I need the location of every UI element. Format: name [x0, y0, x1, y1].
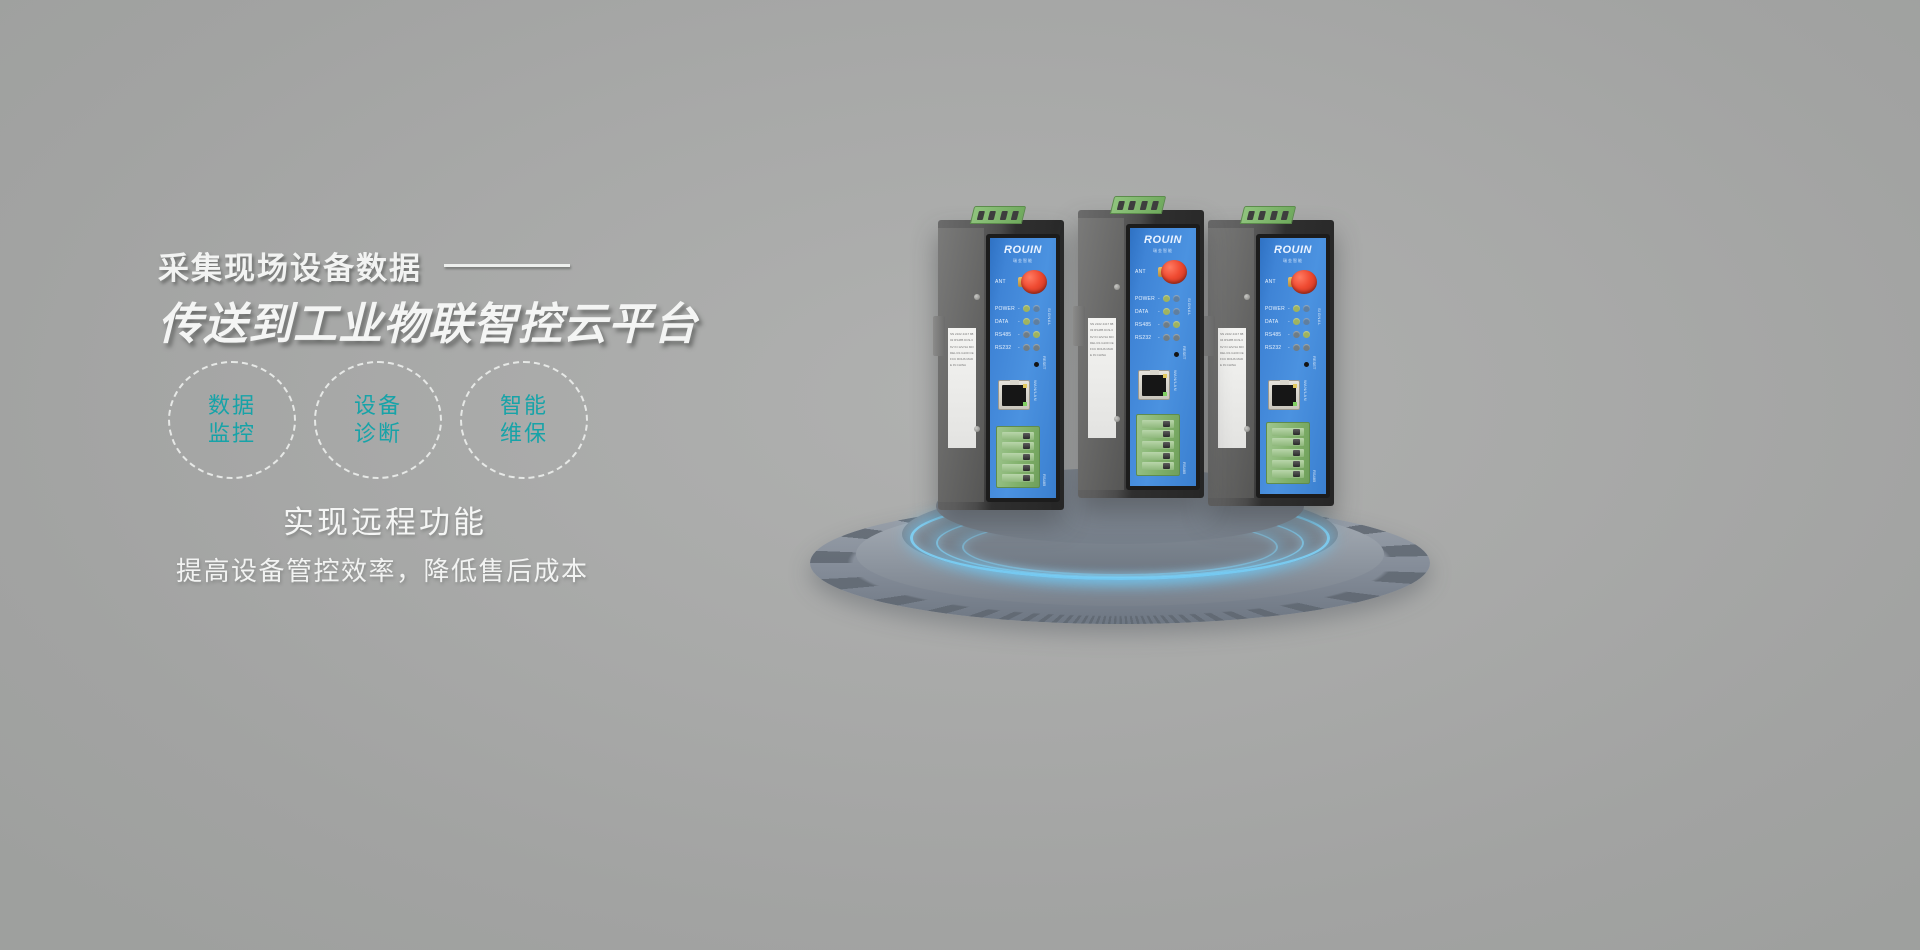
led-indicator-icon — [1293, 318, 1300, 325]
hero-kicker: 采集现场设备数据 — [158, 243, 422, 288]
top-power-connector — [970, 206, 1026, 224]
green-terminal-block — [1136, 414, 1180, 476]
led-dash: - — [1288, 319, 1290, 325]
led-indicator-icon — [1173, 321, 1180, 328]
led-indicator-icon — [1033, 318, 1040, 325]
iot-gateway-device-center: SN 2102 4417 8803 RS485 DC9-36V IN 12V/1… — [1078, 210, 1204, 498]
led-indicator-icon — [1163, 334, 1170, 341]
lan-port-label: WAN/LAN — [1033, 380, 1038, 401]
top-power-connector — [1110, 196, 1166, 214]
led-label: RS485 — [1135, 322, 1155, 328]
led-indicator-icon — [1163, 308, 1170, 315]
rj45-led-amber — [1023, 384, 1027, 388]
hero-kicker-rule — [444, 264, 570, 267]
led-row-data: DATA - — [1135, 305, 1191, 318]
led-indicator-icon — [1303, 331, 1310, 338]
led-indicator-block: POWER - DATA - RS485 - — [1265, 302, 1321, 354]
led-row-power: POWER - — [995, 302, 1051, 315]
antenna-row: ANT — [1135, 260, 1191, 286]
brand-logo: ROUIN — [990, 244, 1056, 256]
led-row-rs485: RS485 - — [995, 328, 1051, 341]
terminal-label: RS485 — [1182, 462, 1187, 474]
feature-badge-smart-maintenance[interactable]: 智能 维保 — [460, 361, 588, 479]
din-rail-clip — [1073, 306, 1085, 346]
terminal-screw — [1272, 428, 1304, 436]
terminal-screw — [1002, 464, 1034, 472]
led-indicator-icon — [1173, 308, 1180, 315]
led-label: DATA — [1135, 309, 1155, 315]
badge-label-line1: 设备 — [354, 392, 402, 420]
led-indicator-icon — [1023, 344, 1030, 351]
terminal-screw — [1272, 460, 1304, 468]
antenna-port-icon[interactable] — [1291, 270, 1317, 294]
led-indicator-icon — [1033, 331, 1040, 338]
green-terminal-block — [1266, 422, 1310, 484]
terminal-label: RS485 — [1312, 470, 1317, 482]
terminal-screw — [1002, 474, 1034, 482]
antenna-label: ANT — [995, 279, 1006, 285]
rj45-led-green — [1163, 392, 1167, 396]
led-dash: - — [1018, 332, 1020, 338]
device-screw-bottom — [974, 426, 980, 432]
device-spec-sticker: SN 2102 4417 8802 RS485 DC9-36V IN 12V/1… — [948, 328, 976, 448]
led-dash: - — [1288, 332, 1290, 338]
reset-button[interactable] — [1174, 352, 1179, 357]
antenna-label: ANT — [1265, 279, 1276, 285]
reset-label: RESET — [1182, 346, 1187, 359]
device-screw-top — [1114, 284, 1120, 290]
led-indicator-block: POWER - DATA - RS485 - — [1135, 292, 1191, 344]
led-indicator-icon — [1023, 305, 1030, 312]
led-dash: - — [1018, 319, 1020, 325]
hero-text-panel: 采集现场设备数据 传送到工业物联智控云平台 数据 监控 设备 诊断 智能 维保 … — [0, 0, 780, 950]
led-row-power: POWER - — [1265, 302, 1321, 315]
terminal-screw — [1142, 462, 1174, 470]
brand-subtitle: 瑞金智能 — [1260, 258, 1326, 264]
led-indicator-block: POWER - DATA - RS485 - — [995, 302, 1051, 354]
antenna-port-icon[interactable] — [1021, 270, 1047, 294]
rj45-led-amber — [1293, 384, 1297, 388]
badge-label-line2: 诊断 — [354, 420, 402, 448]
led-label: POWER — [1135, 296, 1155, 302]
led-indicator-icon — [1163, 295, 1170, 302]
rj45-ethernet-port[interactable] — [998, 380, 1030, 410]
hero-kicker-row: 采集现场设备数据 — [158, 243, 570, 288]
badge-label-line2: 维保 — [500, 420, 548, 448]
led-row-data: DATA - — [1265, 315, 1321, 328]
led-indicator-icon — [1303, 305, 1310, 312]
led-row-power: POWER - — [1135, 292, 1191, 305]
panel-side-label: SIGNAL — [1047, 308, 1052, 326]
antenna-label: ANT — [1135, 269, 1146, 275]
reset-label: RESET — [1312, 356, 1317, 369]
terminal-screw — [1002, 432, 1034, 440]
device-screw-top — [974, 294, 980, 300]
led-dash: - — [1018, 306, 1020, 312]
led-dash: - — [1288, 306, 1290, 312]
feature-badge-data-monitoring[interactable]: 数据 监控 — [168, 361, 296, 479]
led-indicator-icon — [1173, 334, 1180, 341]
led-indicator-icon — [1023, 331, 1030, 338]
panel-side-label: SIGNAL — [1317, 308, 1322, 326]
led-row-rs485: RS485 - — [1135, 318, 1191, 331]
feature-badge-group: 数据 监控 设备 诊断 智能 维保 — [168, 361, 588, 479]
rj45-led-amber — [1163, 374, 1167, 378]
badge-label-line2: 监控 — [208, 420, 256, 448]
green-terminal-block — [996, 426, 1040, 488]
badge-label-line1: 智能 — [500, 392, 548, 420]
led-dash: - — [1158, 296, 1160, 302]
panel-side-label: SIGNAL — [1187, 298, 1192, 316]
led-dash: - — [1158, 322, 1160, 328]
rj45-led-green — [1293, 402, 1297, 406]
lan-port-label: WAN/LAN — [1303, 380, 1308, 401]
brand-logo: ROUIN — [1260, 244, 1326, 256]
reset-button[interactable] — [1034, 362, 1039, 367]
led-indicator-icon — [1173, 295, 1180, 302]
antenna-row: ANT — [1265, 270, 1321, 296]
lan-port-label: WAN/LAN — [1173, 370, 1178, 391]
device-front-panel: ROUIN 瑞金智能 ANT POWER - DATA - — [986, 234, 1060, 502]
terminal-screw — [1272, 470, 1304, 478]
led-dash: - — [1158, 309, 1160, 315]
led-indicator-icon — [1293, 344, 1300, 351]
hero-sub-description: 提高设备管控效率，降低售后成本 — [176, 551, 589, 588]
device-front-panel: ROUIN 瑞金智能 ANT POWER - DATA - — [1126, 224, 1200, 490]
terminal-screw — [1142, 441, 1174, 449]
terminal-screw — [1272, 438, 1304, 446]
terminal-screw — [1142, 430, 1174, 438]
rj45-ethernet-port[interactable] — [1268, 380, 1300, 410]
iot-gateway-device-right: SN 2102 4417 8804 RS485 DC9-36V IN 12V/1… — [1208, 220, 1334, 506]
iot-gateway-device-left: SN 2102 4417 8802 RS485 DC9-36V IN 12V/1… — [938, 220, 1064, 510]
led-row-rs232: RS232 - — [1135, 331, 1191, 344]
device-spec-sticker: SN 2102 4417 8803 RS485 DC9-36V IN 12V/1… — [1088, 318, 1116, 438]
hero-sub-title: 实现远程功能 — [283, 497, 487, 542]
device-spec-sticker: SN 2102 4417 8804 RS485 DC9-36V IN 12V/1… — [1218, 328, 1246, 448]
led-label: RS232 — [1265, 345, 1285, 351]
device-screw-bottom — [1244, 426, 1250, 432]
led-indicator-icon — [1303, 318, 1310, 325]
rj45-led-green — [1023, 402, 1027, 406]
terminal-screw — [1142, 452, 1174, 460]
led-label: POWER — [995, 306, 1015, 312]
led-indicator-icon — [1033, 344, 1040, 351]
led-row-rs232: RS232 - — [995, 341, 1051, 354]
led-dash: - — [1158, 335, 1160, 341]
led-indicator-icon — [1033, 305, 1040, 312]
led-indicator-icon — [1023, 318, 1030, 325]
device-screw-bottom — [1114, 416, 1120, 422]
led-label: RS232 — [1135, 335, 1155, 341]
led-indicator-icon — [1293, 305, 1300, 312]
led-label: RS485 — [995, 332, 1015, 338]
reset-button[interactable] — [1304, 362, 1309, 367]
led-label: RS232 — [995, 345, 1015, 351]
led-row-rs485: RS485 - — [1265, 328, 1321, 341]
led-label: DATA — [995, 319, 1015, 325]
antenna-port-icon[interactable] — [1161, 260, 1187, 284]
led-dash: - — [1018, 345, 1020, 351]
terminal-screw — [1002, 453, 1034, 461]
antenna-row: ANT — [995, 270, 1051, 296]
led-indicator-icon — [1303, 344, 1310, 351]
led-label: DATA — [1265, 319, 1285, 325]
brand-logo: ROUIN — [1130, 234, 1196, 246]
badge-label-line1: 数据 — [208, 392, 256, 420]
brand-subtitle: 瑞金智能 — [990, 258, 1056, 264]
terminal-label: RS485 — [1042, 474, 1047, 486]
led-label: RS485 — [1265, 332, 1285, 338]
brand-subtitle: 瑞金智能 — [1130, 248, 1196, 254]
device-screw-top — [1244, 294, 1250, 300]
led-indicator-icon — [1293, 331, 1300, 338]
din-rail-clip — [933, 316, 945, 356]
hero-headline: 传送到工业物联智控云平台 — [158, 288, 698, 352]
led-row-data: DATA - — [995, 315, 1051, 328]
top-power-connector — [1240, 206, 1296, 224]
led-row-rs232: RS232 - — [1265, 341, 1321, 354]
device-front-panel: ROUIN 瑞金智能 ANT POWER - DATA - — [1256, 234, 1330, 498]
led-label: POWER — [1265, 306, 1285, 312]
rj45-ethernet-port[interactable] — [1138, 370, 1170, 400]
din-rail-clip — [1203, 316, 1215, 356]
terminal-screw — [1142, 420, 1174, 428]
reset-label: RESET — [1042, 356, 1047, 369]
terminal-screw — [1002, 442, 1034, 450]
feature-badge-device-diagnosis[interactable]: 设备 诊断 — [314, 361, 442, 479]
led-dash: - — [1288, 345, 1290, 351]
terminal-screw — [1272, 449, 1304, 457]
led-indicator-icon — [1163, 321, 1170, 328]
product-scene: SN 2102 4417 8802 RS485 DC9-36V IN 12V/1… — [790, 180, 1510, 650]
